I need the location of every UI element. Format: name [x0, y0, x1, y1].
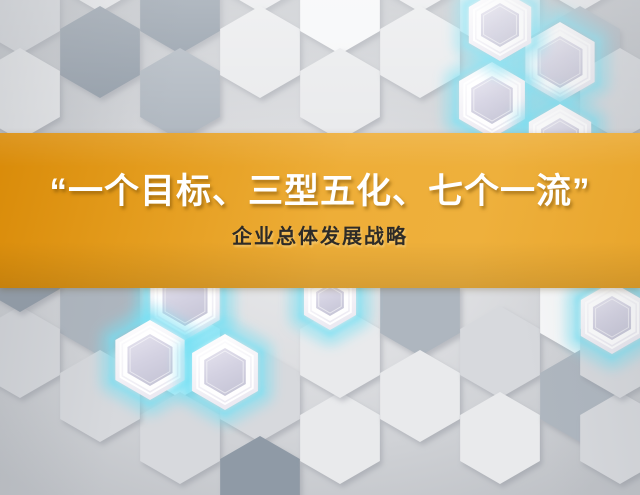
background-hexagon — [300, 0, 380, 54]
background-hexagon — [220, 6, 300, 98]
background-hexagon — [300, 392, 380, 484]
background-hexagon — [380, 350, 460, 442]
background-hexagon — [140, 48, 220, 140]
background-hexagon — [460, 392, 540, 484]
background-hexagon — [0, 0, 60, 54]
glowing-hexagon — [184, 325, 265, 419]
background-hexagon — [300, 48, 380, 140]
banner-title: “一个目标、三型五化、七个一流” — [49, 174, 590, 209]
background-hexagon — [140, 0, 220, 54]
background-hexagon — [60, 6, 140, 98]
strategy-title-slide: “一个目标、三型五化、七个一流” 企业总体发展战略 — [0, 0, 640, 495]
banner-subtitle: 企业总体发展战略 — [232, 227, 408, 247]
title-banner: “一个目标、三型五化、七个一流” 企业总体发展战略 — [0, 133, 640, 288]
background-hexagon — [0, 306, 60, 398]
background-hexagon — [220, 436, 300, 495]
glowing-hexagon — [108, 311, 193, 409]
background-hexagon — [0, 48, 60, 140]
background-hexagon — [460, 306, 540, 398]
